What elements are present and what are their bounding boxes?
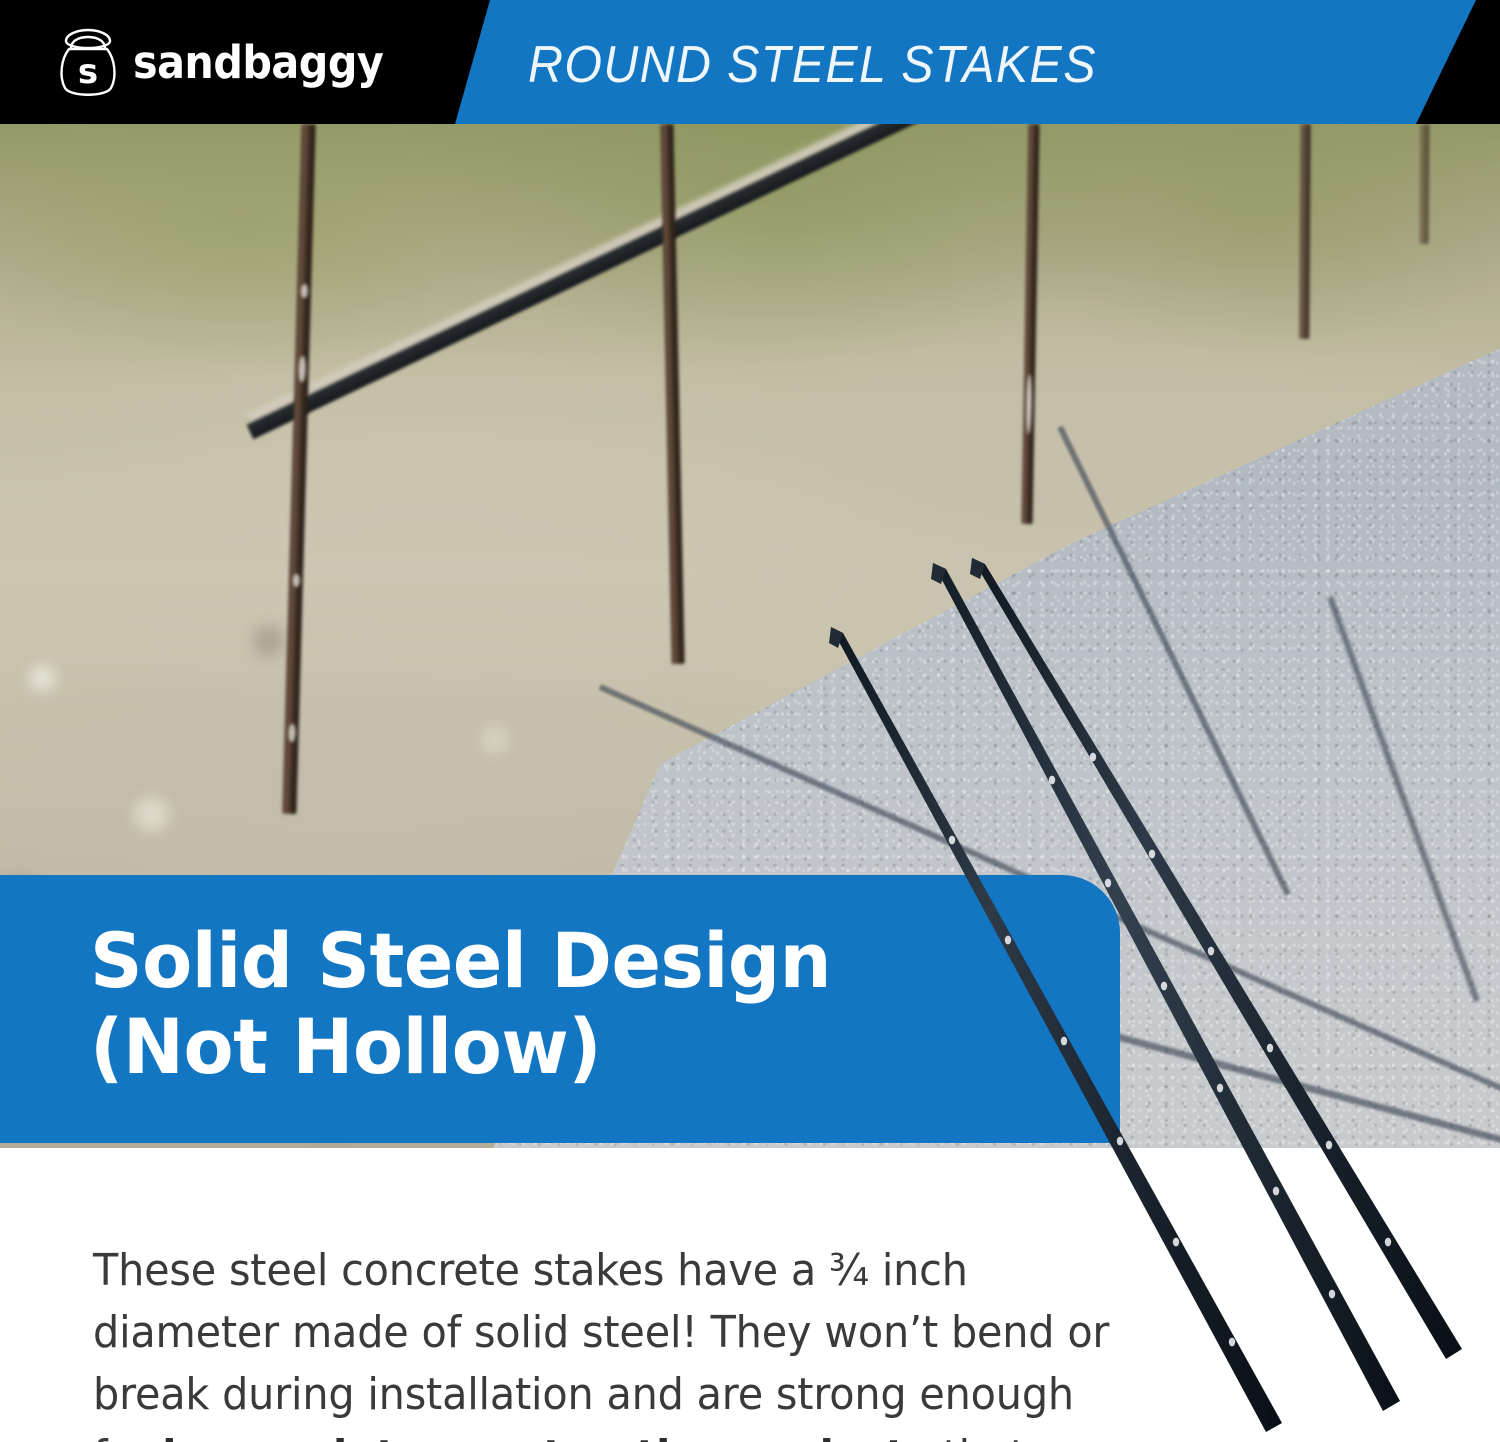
sandbag-icon: s [57,25,119,99]
infographic-page: s sandbaggy ROUND STEEL STAKES [0,0,1500,1442]
brand-wordmark: sandbaggy [133,40,383,85]
body-text-part-1: These steel concrete stakes have a ¾ inc… [93,1245,1109,1442]
headline-line-1: Solid Steel Design [90,916,831,1005]
header-title: ROUND STEEL STAKES [528,34,1097,96]
page-header: s sandbaggy ROUND STEEL STAKES [0,0,1500,124]
driven-stake [1299,124,1311,339]
body-text-bold: heavy-duty construction projects [162,1431,930,1442]
body-paragraph: These steel concrete stakes have a ¾ inc… [93,1240,1141,1442]
page-headline: Solid Steel Design (Not Hollow) [90,918,1050,1090]
headline-line-2: (Not Hollow) [90,1004,1050,1090]
svg-text:s: s [78,52,98,92]
brand-logo[interactable]: s sandbaggy [57,22,447,102]
driven-stake [1420,124,1430,244]
